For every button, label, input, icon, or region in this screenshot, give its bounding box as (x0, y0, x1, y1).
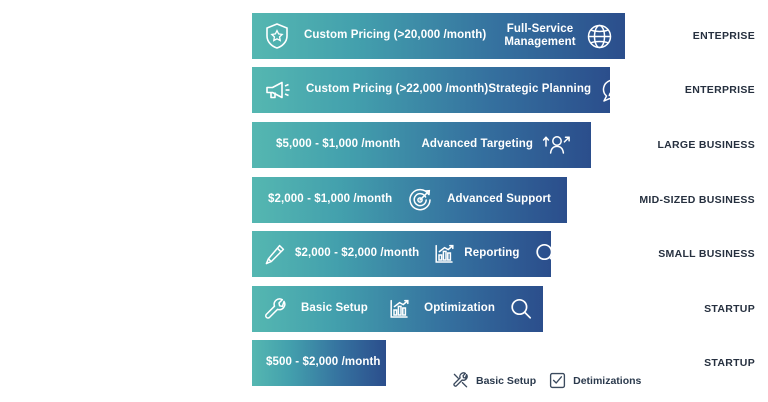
shield-star-icon (264, 22, 290, 50)
pricing-tier-infographic: ENTEPRISE Custom Pricing (>20,000 /month… (0, 0, 768, 402)
tier-row[interactable]: STARTUP $500 - $2,000 /month (0, 340, 768, 386)
globe-icon (586, 23, 613, 50)
tier-price: $2,000 - $2,000 /month (295, 247, 419, 260)
legend-item-basic-setup[interactable]: Basic Setup (452, 372, 536, 389)
megaphone-icon (264, 78, 292, 102)
tier-bar[interactable]: Custom Pricing (>22,000 /month) Strategi… (252, 67, 610, 113)
tier-feature-line2: Management (504, 36, 575, 48)
pencil-icon (264, 243, 286, 266)
tier-feature-line1: Full-Service (507, 23, 573, 35)
tier-feature: Full-ServiceManagement (503, 23, 577, 49)
search-icon (509, 297, 533, 321)
checkbox-icon (549, 372, 566, 389)
tier-feature: Strategic Planning (488, 83, 591, 96)
tier-feature: Advanced Support (447, 193, 551, 206)
user-target-icon (542, 132, 571, 158)
tier-row[interactable]: SMALL BUSINESS $2,000 - $2,000 /month (0, 231, 768, 277)
legend-label: Basic Setup (476, 375, 536, 387)
tier-bar[interactable]: Basic Setup Optimization (252, 286, 543, 332)
tier-feature: Advanced Targeting (422, 138, 534, 151)
tier-row[interactable]: ENTERPRISE Custom Pricing (>22,000 /mont… (0, 67, 768, 113)
tier-feature: Reporting (464, 247, 519, 260)
tier-feature: Optimization (424, 302, 495, 315)
user-chat-icon (600, 77, 610, 104)
tier-price: $5,000 - $1,000 /month (276, 138, 400, 151)
tier-price: Custom Pricing (>22,000 /month) (306, 83, 488, 96)
tools-icon (452, 372, 469, 389)
tier-price: Basic Setup (301, 302, 368, 315)
legend-item-detimizations[interactable]: Detimizations (549, 372, 641, 389)
tier-row[interactable]: STARTUP Basic Setup (0, 286, 768, 332)
tier-label: SMALL BUSINESS (516, 231, 768, 277)
tier-price: $500 - $2,000 /month (266, 356, 381, 369)
tier-bar[interactable]: $2,000 - $1,000 /month Advanced Support (252, 177, 567, 223)
bar-chart-icon (433, 243, 455, 265)
tier-price: Custom Pricing (>20,000 /month) (304, 29, 486, 42)
tier-row[interactable]: ENTEPRISE Custom Pricing (>20,000 /month… (0, 13, 768, 59)
tier-row[interactable]: MID-SIZED BUSINESS $2,000 - $1,000 /mont… (0, 177, 768, 223)
target-arrow-icon (407, 187, 433, 213)
bar-chart-icon (388, 298, 410, 320)
tier-bar[interactable]: $500 - $2,000 /month (252, 340, 386, 386)
legend-label: Detimizations (573, 375, 641, 387)
wrench-icon (264, 298, 287, 321)
search-icon (534, 242, 552, 266)
tier-bar[interactable]: $2,000 - $2,000 /month Reporting (252, 231, 551, 277)
tier-bar[interactable]: $5,000 - $1,000 /month Advanced Targetin… (252, 122, 591, 168)
tier-label: STARTUP (516, 286, 768, 332)
legend: Basic Setup Detimizations (452, 372, 641, 389)
tier-price: $2,000 - $1,000 /month (268, 193, 392, 206)
tier-row[interactable]: LARGE BUSINESS $5,000 - $1,000 /month Ad… (0, 122, 768, 168)
tier-bar[interactable]: Custom Pricing (>20,000 /month) Full-Ser… (252, 13, 625, 59)
